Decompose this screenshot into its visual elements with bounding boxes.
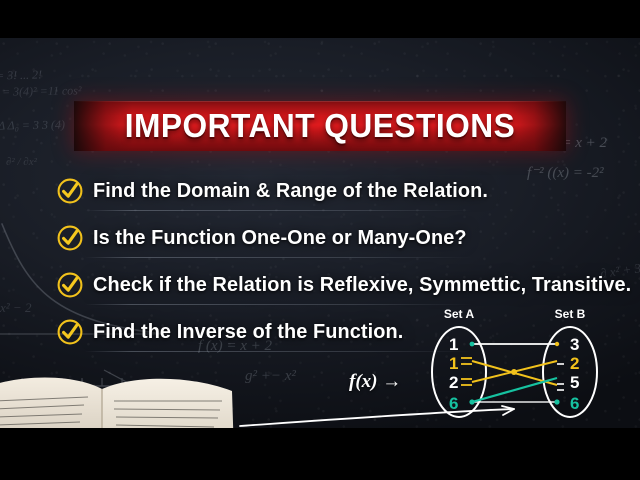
set-b-label: Set B	[555, 307, 586, 321]
page-title: IMPORTANT QUESTIONS	[84, 101, 556, 151]
check-circle-icon	[57, 178, 83, 204]
number-line-sketch	[8, 368, 188, 396]
background-formula-top-left-3: Δ Δ₀ = 3 3 (4)	[0, 117, 65, 133]
slide-canvas: = 3! ... 2! = 3(4)² =11 cos² Δ Δ₀ = 3 3 …	[0, 0, 640, 480]
set-b-element-1: 2	[570, 354, 579, 373]
background-formula-top-left-2: = 3(4)² =11 cos²	[2, 83, 82, 99]
background-formula-top-left-4: ∂² / ∂x²	[6, 156, 37, 168]
open-book-image	[0, 371, 246, 428]
set-b-element-2: 5	[570, 373, 579, 392]
list-item: Is the Function One-One or Many-One?	[57, 214, 623, 261]
list-item: Check if the Relation is Reflexive, Symm…	[57, 261, 623, 308]
background-formula-top-left-1: = 3! ... 2!	[0, 67, 42, 83]
check-circle-icon	[57, 272, 83, 298]
set-a-element-2: 2	[449, 373, 458, 392]
background-formula-top-left-5: x² − 2	[0, 300, 31, 316]
set-b-element-0: 3	[570, 335, 579, 354]
list-item-label: Check if the Relation is Reflexive, Symm…	[93, 273, 631, 297]
set-a-element-3: 6	[449, 394, 458, 413]
check-circle-icon	[57, 225, 83, 251]
set-a-element-0: 1	[449, 335, 458, 354]
list-item-label: Find the Inverse of the Function.	[93, 320, 403, 344]
title-banner: IMPORTANT QUESTIONS	[74, 101, 566, 151]
set-a-element-1: 1	[449, 354, 458, 373]
set-b-element-3: 6	[570, 394, 579, 413]
check-circle-icon	[57, 319, 83, 345]
chalkboard-background: = 3! ... 2! = 3(4)² =11 cos² Δ Δ₀ = 3 3 …	[0, 38, 640, 428]
letterbox-top	[0, 0, 640, 38]
background-formula-mid-2: g² +− x²	[245, 368, 296, 385]
set-a-label: Set A	[444, 307, 475, 321]
set-a-oval	[432, 327, 486, 417]
function-mapping-label: f(x) →	[349, 371, 401, 393]
list-item-label: Find the Domain & Range of the Relation.	[93, 179, 488, 203]
list-item-label: Is the Function One-One or Many-One?	[93, 226, 467, 250]
list-item: Find the Domain & Range of the Relation.	[57, 167, 623, 214]
set-mapping-diagram: Set A Set B	[418, 306, 628, 426]
letterbox-bottom	[0, 428, 640, 480]
